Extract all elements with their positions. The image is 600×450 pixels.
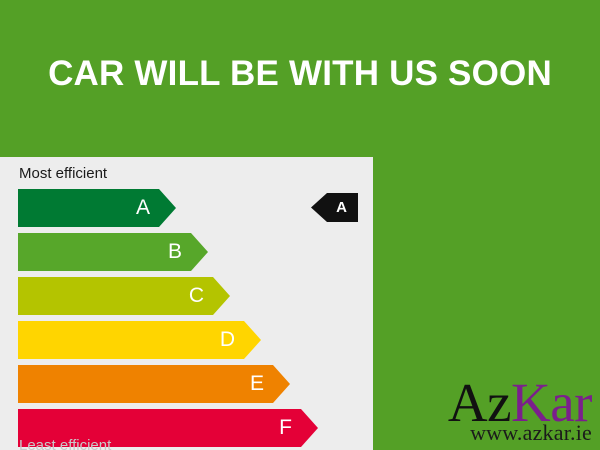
energy-rating-row-c: C bbox=[18, 277, 358, 315]
page-title: CAR WILL BE WITH US SOON bbox=[0, 56, 600, 91]
energy-rating-bar-d: D bbox=[18, 321, 261, 359]
brand-logo: AzKar www.azkar.ie bbox=[448, 375, 592, 444]
energy-rating-letter-e: E bbox=[250, 373, 264, 394]
energy-rating-bar-c: C bbox=[18, 277, 230, 315]
current-rating-letter: A bbox=[336, 200, 347, 215]
energy-rating-letter-f: F bbox=[279, 417, 292, 438]
energy-rating-row-d: D bbox=[18, 321, 358, 359]
least-efficient-label: Least efficient bbox=[19, 438, 111, 450]
promo-banner: CAR WILL BE WITH US SOON Most efficient … bbox=[0, 0, 600, 450]
energy-rating-row-a: A bbox=[18, 189, 358, 227]
energy-rating-letter-a: A bbox=[136, 197, 150, 218]
energy-rating-letter-c: C bbox=[189, 285, 204, 306]
brand-url: www.azkar.ie bbox=[448, 422, 592, 444]
energy-rating-bar-a: A bbox=[18, 189, 176, 227]
most-efficient-label: Most efficient bbox=[19, 166, 107, 181]
energy-rating-row-e: E bbox=[18, 365, 358, 403]
energy-rating-letter-d: D bbox=[220, 329, 235, 350]
energy-rating-bar-b: B bbox=[18, 233, 208, 271]
energy-rating-bar-e: E bbox=[18, 365, 290, 403]
energy-rating-panel: Most efficient A B C D bbox=[0, 157, 373, 450]
energy-rating-row-b: B bbox=[18, 233, 358, 271]
energy-rating-bar-list: A B C D E bbox=[18, 189, 358, 450]
energy-rating-letter-b: B bbox=[168, 241, 182, 262]
